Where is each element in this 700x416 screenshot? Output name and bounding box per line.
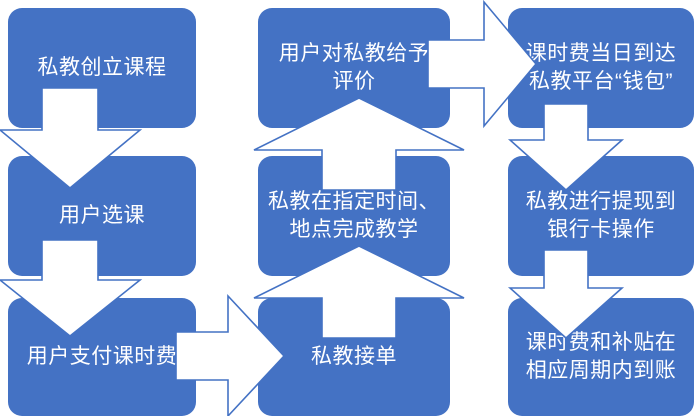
flow-node-label: 私教创立课程	[38, 54, 167, 82]
flow-arrow-up-jiedan-to-jiaoxue	[254, 246, 464, 338]
flow-node-label: 私教进行提现到 银行卡操作	[526, 188, 677, 243]
flow-node-label: 私教接单	[311, 343, 397, 371]
flow-node-label: 私教在指定时间、 地点完成教学	[268, 188, 440, 243]
flow-node-label: 用户选课	[59, 202, 145, 230]
flow-arrow-down-qianbao-to-tixian	[510, 104, 622, 190]
flow-node-label: 用户对私教给予 评价	[279, 40, 430, 95]
flow-arrow-down-tixian-to-daozhang	[510, 250, 622, 338]
flow-arrow-down-xuanke-to-zhifu	[0, 240, 140, 336]
flowchart-canvas: 私教创立课程 用户选课 用户支付课时费 用户对私教给予 评价 私教在指定时间、 …	[0, 0, 700, 416]
flow-node-label: 课时费当日到达 私教平台“钱包”	[526, 40, 677, 95]
flow-node-label: 用户支付课时费	[27, 343, 178, 371]
flow-arrow-down-chuangli-to-xuanke	[0, 88, 140, 188]
